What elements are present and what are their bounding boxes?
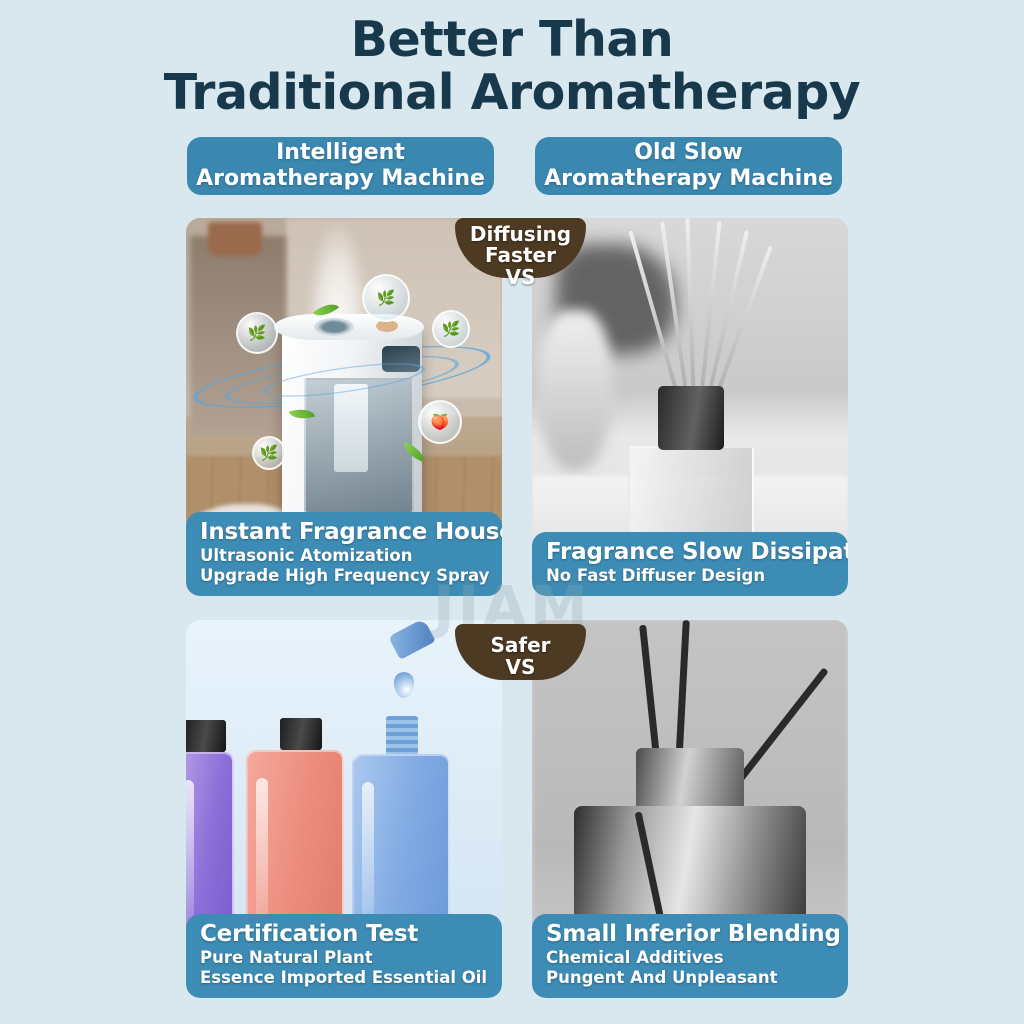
caption-bottom-right: Small Inferior Blending Chemical Additiv… xyxy=(532,914,848,998)
headline-line-2: Traditional Aromatherapy xyxy=(0,67,1024,120)
caption-subtitle-1: Chemical Additives xyxy=(546,948,834,968)
column-header-old-slow-line1: Old Slow xyxy=(544,140,833,166)
diffuser-neck xyxy=(636,748,744,810)
column-header-old-slow-line2: Aromatherapy Machine xyxy=(544,166,833,192)
diffuser-nozzle xyxy=(314,318,354,336)
bottle-cap-coral xyxy=(280,718,322,750)
caption-title: Certification Test xyxy=(200,922,488,948)
poster-root: Better Than Traditional Aromatherapy Int… xyxy=(0,0,1024,1024)
caption-subtitle-2: Essence Imported Essential Oil xyxy=(200,968,488,988)
caption-title: Instant Fragrance Houseful xyxy=(200,520,488,546)
caption-title: Fragrance Slow Dissipates xyxy=(546,540,834,566)
bottle-neck-blue xyxy=(386,716,418,758)
caption-subtitle-1: No Fast Diffuser Design xyxy=(546,566,834,586)
plant-pot xyxy=(208,222,262,256)
badge-line-1: Diffusing xyxy=(455,224,586,245)
badge-diffusing-faster: Diffusing Faster VS xyxy=(455,218,586,278)
column-header-intelligent-line2: Aromatherapy Machine xyxy=(196,166,485,192)
badge-line-2: VS xyxy=(455,656,586,678)
page-title: Better Than Traditional Aromatherapy xyxy=(0,14,1024,120)
bottle-highlight xyxy=(186,780,194,926)
bottle-highlight xyxy=(256,778,268,928)
caption-subtitle-1: Pure Natural Plant xyxy=(200,948,488,968)
bubble-leaf-upper: 🌿 xyxy=(362,274,410,322)
bubble-leaf-lower: 🌿 xyxy=(252,436,286,470)
caption-title: Small Inferior Blending xyxy=(546,922,834,948)
headline-line-1: Better Than xyxy=(0,14,1024,67)
diffuser-black-cap xyxy=(658,386,724,450)
bottle-cap-purple xyxy=(186,720,226,752)
caption-top-right: Fragrance Slow Dissipates No Fast Diffus… xyxy=(532,532,848,596)
column-header-intelligent: Intelligent Aromatherapy Machine xyxy=(187,137,494,195)
bottle-highlight xyxy=(362,782,374,928)
caption-subtitle-1: Ultrasonic Atomization xyxy=(200,546,488,566)
caption-bottom-left: Certification Test Pure Natural Plant Es… xyxy=(186,914,502,998)
bubble-leaf-right: 🌿 xyxy=(432,310,470,348)
column-header-old-slow: Old Slow Aromatherapy Machine xyxy=(535,137,842,195)
diffuser-oil-bottle xyxy=(334,384,368,472)
badge-line-3: VS xyxy=(455,267,586,288)
badge-line-1: Safer xyxy=(455,634,586,656)
bubble-fruit: 🍑 xyxy=(418,400,462,444)
caption-subtitle-2: Upgrade High Frequency Spray xyxy=(200,566,488,586)
caption-top-left: Instant Fragrance Houseful Ultrasonic At… xyxy=(186,512,502,596)
caption-subtitle-2: Pungent And Unpleasant xyxy=(546,968,834,988)
blurred-vase xyxy=(538,310,612,470)
column-header-intelligent-line1: Intelligent xyxy=(196,140,485,166)
bubble-leaf-left: 🌿 xyxy=(236,312,278,354)
badge-safer: Safer VS xyxy=(455,624,586,680)
badge-line-2: Faster xyxy=(455,245,586,266)
